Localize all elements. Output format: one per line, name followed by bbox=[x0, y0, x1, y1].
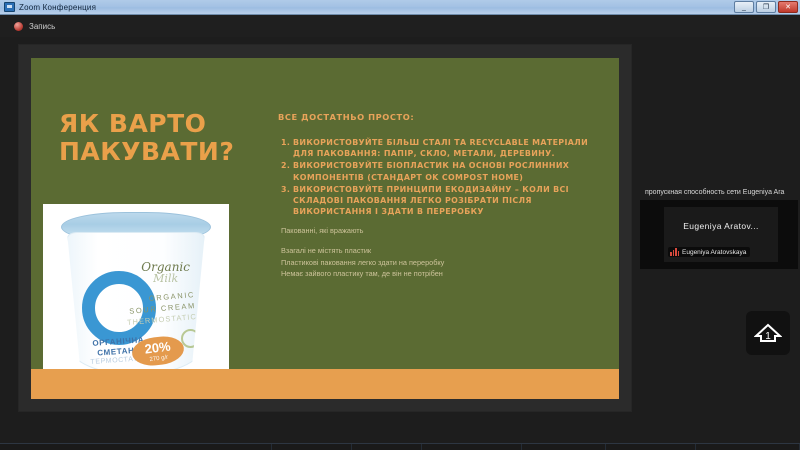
window-controls: _ ❐ ✕ bbox=[734, 1, 798, 13]
brand-line-2: Milk bbox=[141, 273, 190, 285]
slide-title: ЯК ВАРТО ПАКУВАТИ? bbox=[59, 110, 304, 167]
taskbar-slot[interactable] bbox=[522, 444, 606, 450]
presentation-slide: ЯК ВАРТО ПАКУВАТИ? Organic Milk ORGANIC … bbox=[31, 58, 619, 399]
close-icon: ✕ bbox=[779, 2, 797, 12]
list-item-number: 1. bbox=[281, 137, 293, 159]
participant-display-name: Eugeniya Aratov... bbox=[664, 221, 778, 231]
list-item-number: 2. bbox=[281, 160, 293, 182]
zoom-meeting-window: Zoom Конференция _ ❐ ✕ Запись ЯК ВАРТО П… bbox=[0, 0, 800, 450]
window-title: Zoom Конференция bbox=[19, 3, 96, 12]
list-item: 3. ВИКОРИСТОВУЙТЕ ПРИНЦИПИ ЕКОДИЗАЙНУ – … bbox=[281, 184, 601, 218]
slide-body-heading: ВСЕ ДОСТАТНЬО ПРОСТО: bbox=[278, 112, 414, 122]
record-dot-icon[interactable] bbox=[14, 22, 23, 31]
list-item-text: ВИКОРИСТОВУЙТЕ БІОПЛАСТИК НА ОСНОВІ РОСЛ… bbox=[293, 160, 601, 182]
participant-video-frame: Eugeniya Aratov... Eugeniya Aratovskaya bbox=[664, 207, 778, 262]
window-titlebar: Zoom Конференция _ ❐ ✕ bbox=[0, 0, 800, 15]
network-warning-text: пропускная способность сети Eugeniya Ara bbox=[645, 187, 800, 199]
organic-certification-icon bbox=[181, 329, 200, 348]
taskbar-slot[interactable] bbox=[606, 444, 696, 450]
participant-video-thumbnail[interactable]: Eugeniya Aratov... Eugeniya Aratovskaya bbox=[640, 200, 798, 269]
participant-tag-label: Eugeniya Aratovskaya bbox=[682, 249, 746, 256]
shared-screen-area[interactable]: ЯК ВАРТО ПАКУВАТИ? Organic Milk ORGANIC … bbox=[18, 44, 632, 412]
notes-line: Пластикові паковання легко здати на пере… bbox=[281, 257, 591, 268]
taskbar-slot[interactable] bbox=[422, 444, 522, 450]
windows-taskbar[interactable] bbox=[0, 443, 800, 450]
product-brand: Organic Milk bbox=[141, 261, 190, 285]
notes-line: Взагалі не містять пластик bbox=[281, 245, 591, 256]
slide-footer-bar bbox=[31, 369, 619, 399]
close-button[interactable]: ✕ bbox=[778, 1, 798, 13]
minimize-icon: _ bbox=[735, 2, 753, 12]
list-item-text: ВИКОРИСТОВУЙТЕ ПРИНЦИПИ ЕКОДИЗАЙНУ – КОЛ… bbox=[293, 184, 601, 218]
notes-heading: Пакованні, які вражають bbox=[281, 225, 591, 236]
audio-level-bars-icon bbox=[670, 248, 679, 256]
slide-numbered-list: 1. ВИКОРИСТОВУЙТЕ БІЛЬШ СТАЛІ ТА RECYCLA… bbox=[281, 137, 601, 219]
tub-body: Organic Milk ORGANIC SOUR CREAM THERMOST… bbox=[67, 232, 205, 374]
taskbar-slot[interactable] bbox=[352, 444, 422, 450]
maximize-icon: ❐ bbox=[757, 2, 775, 12]
minimize-button[interactable]: _ bbox=[734, 1, 754, 13]
zoom-app-icon bbox=[4, 2, 15, 12]
home-button[interactable]: 1 bbox=[746, 311, 790, 355]
taskbar-slot[interactable] bbox=[272, 444, 352, 450]
list-item-number: 3. bbox=[281, 184, 293, 218]
participant-name-tag: Eugeniya Aratovskaya bbox=[668, 247, 750, 257]
notes-spacer bbox=[281, 236, 591, 245]
taskbar-slot[interactable] bbox=[0, 444, 272, 450]
sour-cream-tub-illustration: Organic Milk ORGANIC SOUR CREAM THERMOST… bbox=[59, 212, 213, 377]
list-item-text: ВИКОРИСТОВУЙТЕ БІЛЬШ СТАЛІ ТА RECYCLABLE… bbox=[293, 137, 601, 159]
recording-label: Запись bbox=[29, 22, 55, 31]
list-item: 2. ВИКОРИСТОВУЙТЕ БІОПЛАСТИК НА ОСНОВІ Р… bbox=[281, 160, 601, 182]
notes-line: Немає зайвого пластику там, де він не по… bbox=[281, 268, 591, 279]
list-item: 1. ВИКОРИСТОВУЙТЕ БІЛЬШ СТАЛІ ТА RECYCLA… bbox=[281, 137, 601, 159]
taskbar-slot[interactable] bbox=[696, 444, 800, 450]
maximize-button[interactable]: ❐ bbox=[756, 1, 776, 13]
product-image-panel: Organic Milk ORGANIC SOUR CREAM THERMOST… bbox=[43, 204, 229, 381]
recording-bar: Запись bbox=[0, 15, 800, 37]
product-english-text: ORGANIC SOUR CREAM THERMOSTATIC bbox=[125, 290, 198, 329]
home-badge-count: 1 bbox=[765, 331, 771, 342]
fat-percentage-badge: 20% 270 g/г bbox=[130, 334, 185, 368]
slide-notes-block: Пакованні, які вражають Взагалі не містя… bbox=[281, 225, 591, 279]
